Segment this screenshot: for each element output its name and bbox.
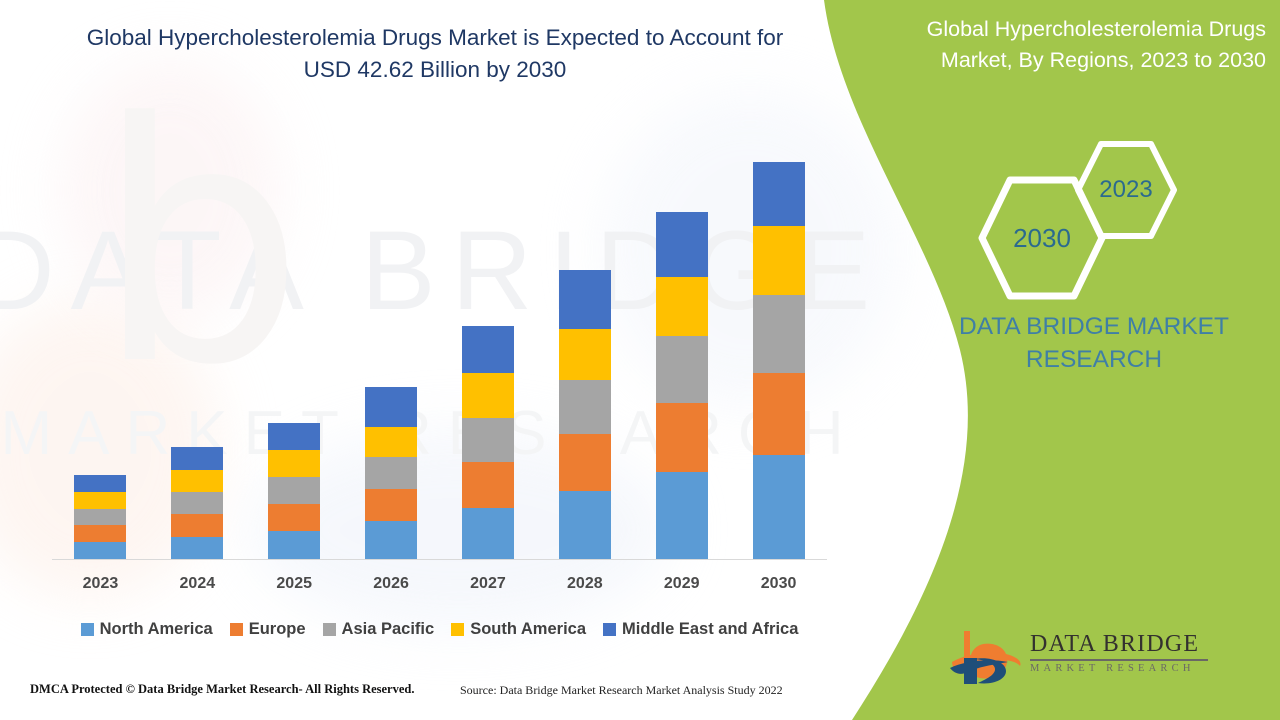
bar-segment: [656, 472, 708, 559]
legend-item[interactable]: Middle East and Africa: [603, 620, 798, 639]
x-axis-tick-label: 2024: [158, 575, 236, 593]
panel-brand-text: DATA BRIDGE MARKET RESEARCH: [944, 310, 1244, 376]
legend-item[interactable]: South America: [451, 620, 586, 639]
bar-segment: [171, 470, 223, 492]
bar-segment: [462, 462, 514, 508]
stacked-bar: [462, 326, 514, 559]
bar-segment: [171, 514, 223, 536]
footer-copyright: DMCA Protected © Data Bridge Market Rese…: [30, 682, 415, 697]
legend-item[interactable]: Europe: [230, 620, 306, 639]
logo-divider: [1030, 659, 1208, 661]
legend-label: Middle East and Africa: [622, 620, 798, 639]
bar-column: [61, 475, 139, 559]
bar-segment: [559, 434, 611, 491]
bar-segment: [74, 542, 126, 559]
logo-wordmark: DATA BRIDGE MARKET RESEARCH: [1030, 632, 1220, 674]
bar-segment: [74, 492, 126, 509]
x-axis-labels: 20232024202520262027202820292030: [52, 570, 827, 598]
bar-segment: [656, 403, 708, 473]
bar-group: [52, 120, 827, 559]
logo-primary-text: DATA BRIDGE: [1030, 632, 1220, 657]
stacked-bar: [753, 162, 805, 559]
bar-segment: [268, 531, 320, 559]
bar-segment: [559, 329, 611, 380]
legend-swatch-icon: [81, 623, 94, 636]
green-side-panel: Global Hypercholesterolemia Drugs Market…: [810, 0, 1280, 720]
bar-segment: [753, 226, 805, 296]
green-panel-content: Global Hypercholesterolemia Drugs Market…: [810, 0, 1280, 720]
stacked-bar: [365, 387, 417, 559]
bar-segment: [268, 477, 320, 504]
bar-segment: [656, 212, 708, 277]
logo-mark-icon: [950, 628, 1022, 686]
panel-title: Global Hypercholesterolemia Drugs Market…: [926, 14, 1266, 76]
bar-segment: [365, 457, 417, 489]
bar-segment: [268, 504, 320, 531]
bar-segment: [753, 295, 805, 372]
data-bridge-logo: DATA BRIDGE MARKET RESEARCH: [950, 628, 1210, 690]
x-axis-tick-label: 2029: [643, 575, 721, 593]
x-axis-tick-label: 2027: [449, 575, 527, 593]
bar-segment: [365, 521, 417, 559]
bar-column: [643, 212, 721, 559]
bar-segment: [268, 450, 320, 477]
bar-segment: [74, 475, 126, 492]
legend-swatch-icon: [603, 623, 616, 636]
logo-secondary-text: MARKET RESEARCH: [1030, 663, 1220, 674]
hexagon-2023-label: 2023: [1074, 140, 1178, 240]
bar-segment: [656, 336, 708, 402]
bar-segment: [365, 489, 417, 521]
bar-segment: [171, 537, 223, 559]
bar-segment: [365, 427, 417, 458]
legend-item[interactable]: Asia Pacific: [323, 620, 435, 639]
legend-swatch-icon: [451, 623, 464, 636]
legend-swatch-icon: [230, 623, 243, 636]
bar-segment: [753, 162, 805, 225]
stacked-bar: [656, 212, 708, 559]
bar-column: [352, 387, 430, 559]
legend-label: Asia Pacific: [342, 620, 435, 639]
bar-column: [255, 423, 333, 559]
stacked-bar: [559, 270, 611, 559]
plot-area: [52, 120, 827, 560]
chart-infographic: DATA BRIDGE MARKET RESEARCH b Global Hyp…: [0, 0, 1280, 720]
chart-title: Global Hypercholesterolemia Drugs Market…: [70, 22, 800, 86]
bar-segment: [74, 525, 126, 542]
bar-segment: [268, 423, 320, 450]
legend-label: Europe: [249, 620, 306, 639]
bar-segment: [171, 447, 223, 469]
x-axis-tick-label: 2026: [352, 575, 430, 593]
bar-segment: [559, 380, 611, 434]
footer-source: Source: Data Bridge Market Research Mark…: [460, 683, 783, 698]
x-axis-tick-label: 2030: [740, 575, 818, 593]
hexagon-2023: 2023: [1074, 140, 1178, 240]
footer: DMCA Protected © Data Bridge Market Rese…: [0, 682, 845, 708]
hexagon-badges: 2030 2023: [970, 140, 1200, 300]
bar-segment: [462, 508, 514, 559]
x-axis-line: [52, 559, 827, 560]
bar-segment: [753, 373, 805, 455]
x-axis-tick-label: 2028: [546, 575, 624, 593]
bar-segment: [462, 418, 514, 462]
chart-legend: North AmericaEuropeAsia PacificSouth Ame…: [52, 616, 827, 642]
legend-label: South America: [470, 620, 586, 639]
bar-segment: [559, 270, 611, 329]
legend-item[interactable]: North America: [81, 620, 213, 639]
bar-segment: [74, 509, 126, 526]
bar-segment: [559, 491, 611, 559]
legend-swatch-icon: [323, 623, 336, 636]
x-axis-tick-label: 2025: [255, 575, 333, 593]
stacked-bar: [171, 447, 223, 559]
bar-segment: [462, 326, 514, 373]
x-axis-tick-label: 2023: [61, 575, 139, 593]
bar-segment: [656, 277, 708, 337]
bar-segment: [171, 492, 223, 514]
bar-column: [158, 447, 236, 559]
bar-column: [546, 270, 624, 559]
bar-segment: [753, 455, 805, 559]
bar-column: [740, 162, 818, 559]
stacked-bar: [74, 475, 126, 559]
legend-label: North America: [100, 620, 213, 639]
bar-segment: [462, 373, 514, 419]
bar-column: [449, 326, 527, 559]
stacked-bar: [268, 423, 320, 559]
bar-segment: [365, 387, 417, 427]
